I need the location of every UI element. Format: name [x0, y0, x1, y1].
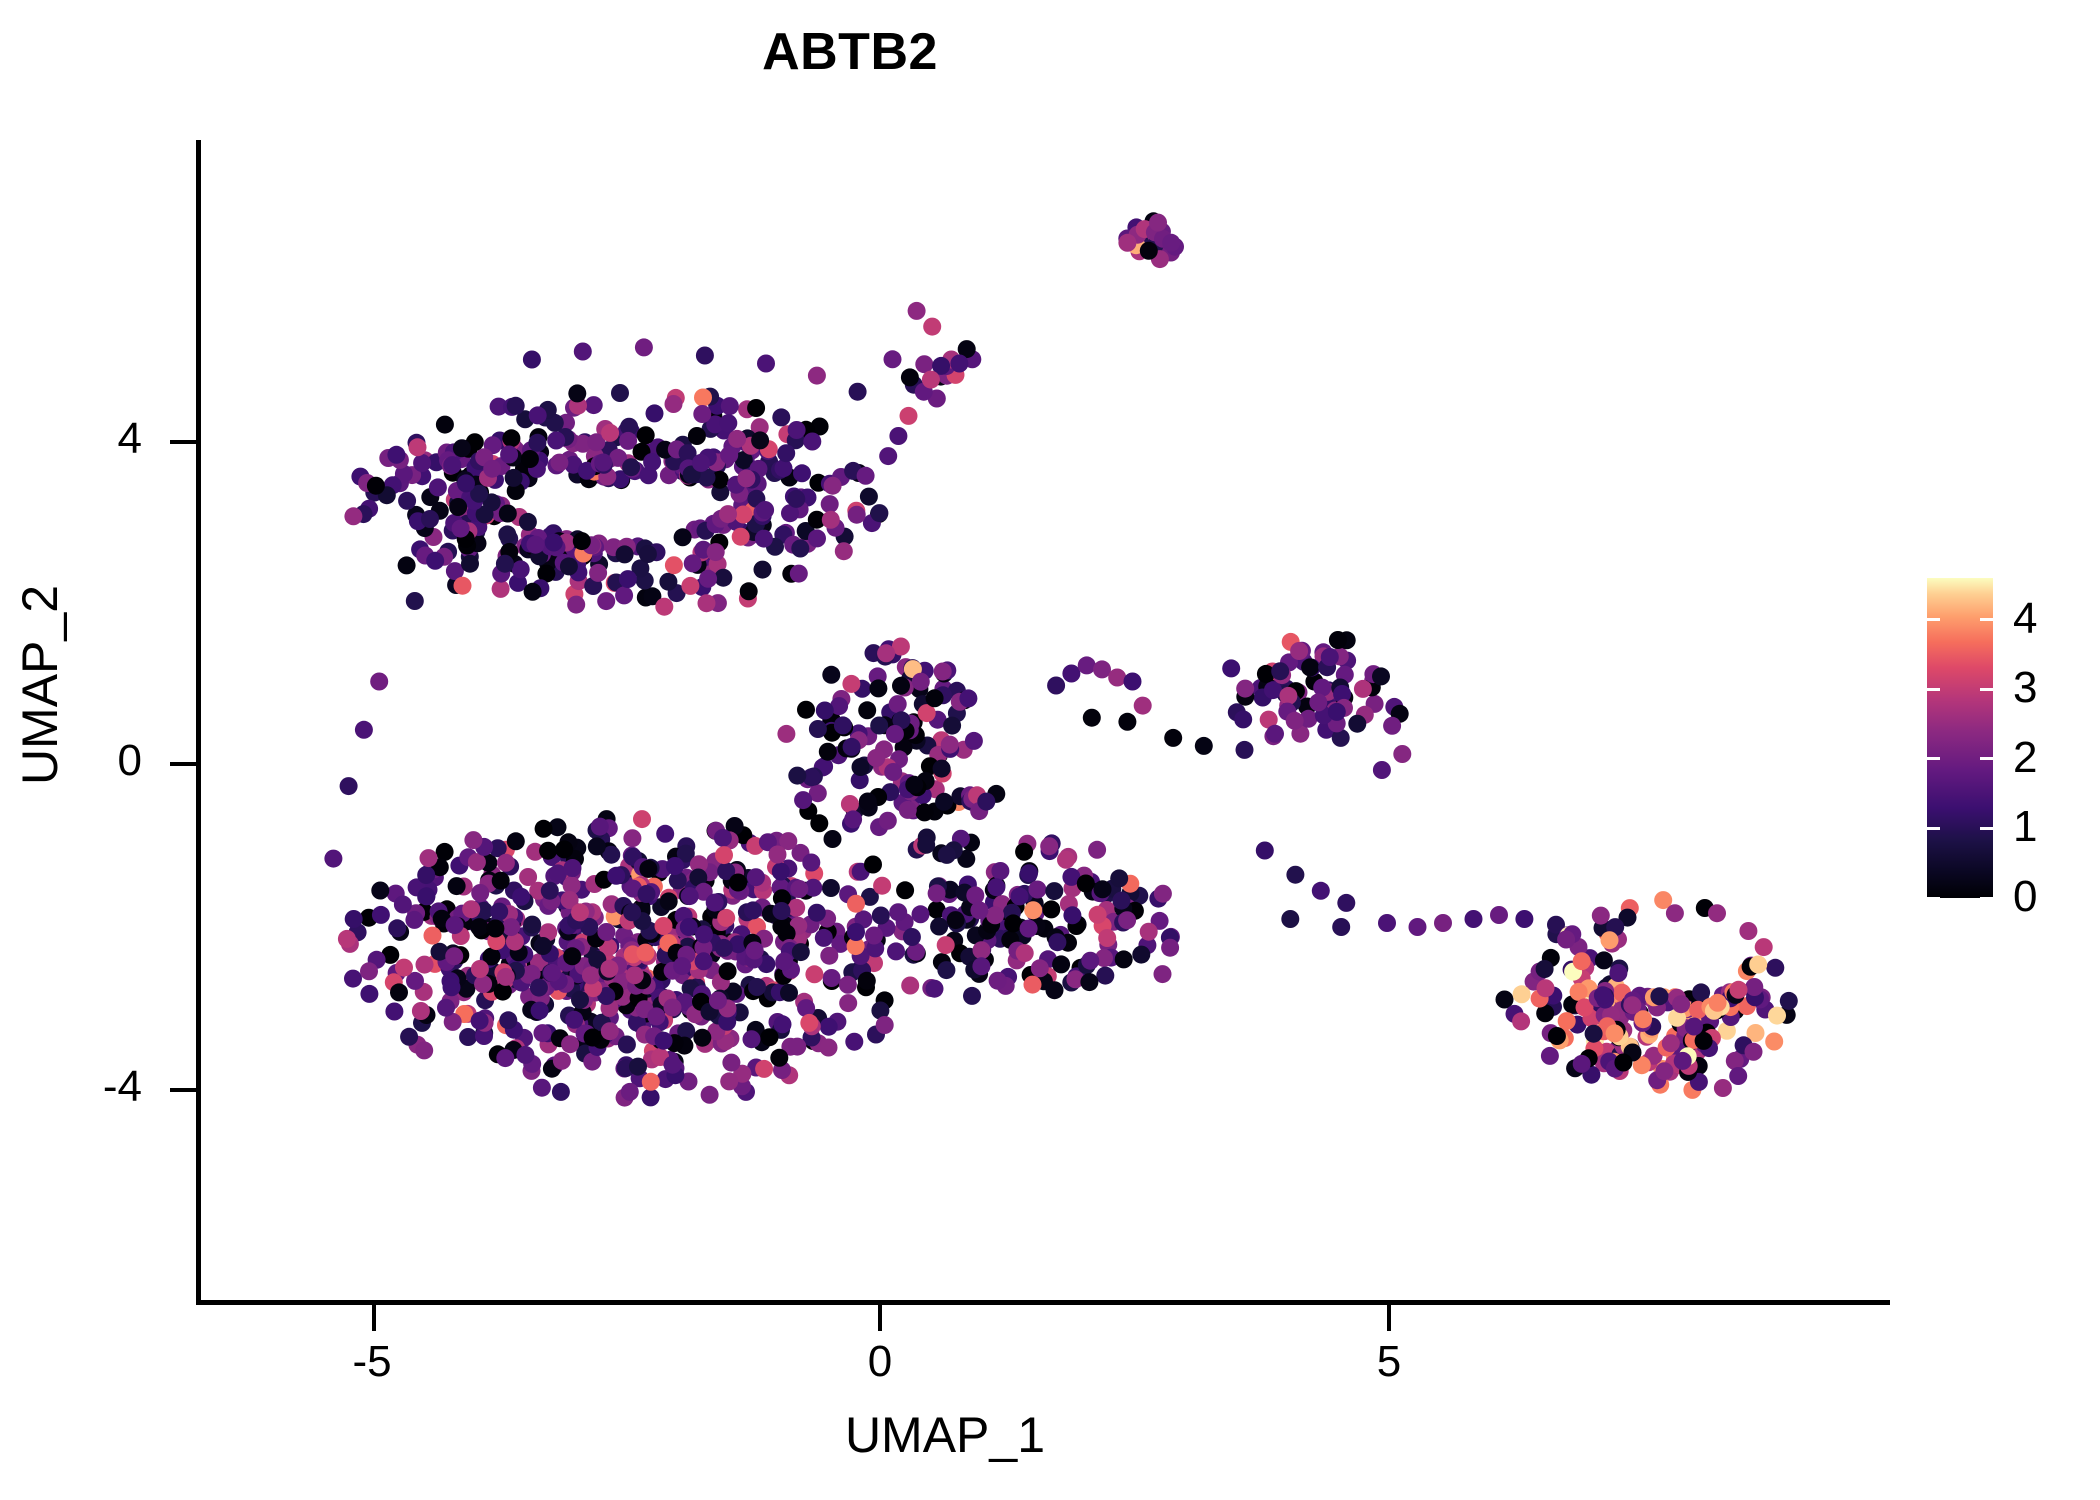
scatter-point — [492, 872, 510, 890]
scatter-point — [565, 1011, 583, 1029]
scatter-point — [819, 743, 837, 761]
scatter-point — [963, 987, 981, 1005]
scatter-point — [601, 424, 619, 442]
scatter-point — [1112, 892, 1130, 910]
scatter-point — [681, 577, 699, 595]
scatter-point — [1745, 978, 1763, 996]
scatter-point — [523, 916, 541, 934]
scatter-point — [486, 920, 504, 938]
scatter-point — [534, 937, 552, 955]
scatter-point — [1537, 979, 1555, 997]
scatter-point — [696, 347, 714, 365]
scatter-point — [1745, 1043, 1763, 1061]
scatter-point — [1118, 911, 1136, 929]
scatter-point — [810, 814, 828, 832]
scatter-point — [1052, 955, 1070, 973]
colorbar-tickmark-1 — [1980, 827, 1993, 830]
scatter-point — [933, 760, 951, 778]
scatter-point — [693, 405, 711, 423]
scatter-point — [1573, 952, 1591, 970]
scatter-point — [972, 957, 990, 975]
scatter-point — [754, 561, 772, 579]
scatter-point — [889, 695, 907, 713]
scatter-point — [1077, 875, 1095, 893]
scatter-point — [835, 542, 853, 560]
scatter-point — [719, 505, 737, 523]
scatter-point — [1057, 851, 1075, 869]
scatter-point — [1256, 842, 1274, 860]
scatter-point — [841, 795, 859, 813]
scatter-point — [496, 1049, 514, 1067]
scatter-point — [987, 878, 1005, 896]
scatter-point — [665, 556, 683, 574]
scatter-point — [400, 1028, 418, 1046]
scatter-point — [637, 944, 655, 962]
x-axis-ticklabel-5: 5 — [1329, 1340, 1449, 1384]
scatter-point — [426, 552, 444, 570]
scatter-point — [1666, 904, 1684, 922]
scatter-point — [1672, 995, 1690, 1013]
scatter-point — [808, 529, 826, 547]
scatter-point — [777, 444, 795, 462]
scatter-point — [1236, 741, 1254, 759]
scatter-point — [884, 350, 902, 368]
scatter-point — [1709, 994, 1727, 1012]
colorbar-tickmark-4 — [1980, 618, 1993, 621]
scatter-point — [822, 879, 840, 897]
scatter-point — [519, 513, 537, 531]
scatter-point — [531, 1002, 549, 1020]
scatter-point — [464, 831, 482, 849]
scatter-point — [344, 507, 362, 525]
scatter-point — [547, 432, 565, 450]
scatter-point — [792, 943, 810, 961]
y-axis-title: UMAP_2 — [15, 505, 65, 865]
scatter-point — [1162, 234, 1180, 252]
scatter-point — [659, 573, 677, 591]
scatter-point — [820, 1039, 838, 1057]
scatter-point — [899, 801, 917, 819]
scatter-point — [1570, 983, 1588, 1001]
scatter-point — [655, 1032, 673, 1050]
scatter-point — [734, 506, 752, 524]
scatter-point — [1708, 904, 1726, 922]
scatter-point — [1541, 1047, 1559, 1065]
scatter-point — [1149, 214, 1167, 232]
scatter-point — [823, 969, 841, 987]
scatter-point — [591, 818, 609, 836]
scatter-point — [621, 1083, 639, 1101]
scatter-point — [970, 901, 988, 919]
scatter-point — [474, 975, 492, 993]
x-axis-title: UMAP_1 — [0, 1410, 1890, 1460]
colorbar-tickmark-3 — [1980, 688, 1993, 691]
scatter-point — [490, 903, 508, 921]
scatter-point — [448, 877, 466, 895]
scatter-point — [1378, 914, 1396, 932]
scatter-point — [534, 1024, 552, 1042]
scatter-point — [1154, 885, 1172, 903]
scatter-point — [1266, 725, 1284, 743]
scatter-point — [642, 1088, 660, 1106]
scatter-point — [502, 429, 520, 447]
scatter-point — [684, 554, 702, 572]
scatter-point — [991, 862, 1009, 880]
scatter-point — [912, 905, 930, 923]
scatter-point — [398, 556, 416, 574]
scatter-point — [1465, 910, 1483, 928]
scatter-point — [901, 977, 919, 995]
scatter-point — [1081, 952, 1099, 970]
scatter-point — [688, 427, 706, 445]
scatter-point — [1016, 944, 1034, 962]
scatter-point — [740, 582, 758, 600]
scatter-point — [852, 758, 870, 776]
scatter-point — [616, 545, 634, 563]
scatter-point — [797, 701, 815, 719]
scatter-point — [530, 979, 548, 997]
scatter-point — [436, 416, 454, 434]
scatter-point — [1040, 837, 1058, 855]
scatter-point — [626, 966, 644, 984]
scatter-point — [973, 941, 991, 959]
scatter-point — [905, 776, 923, 794]
x-axis-tick-0 — [878, 1305, 882, 1331]
scatter-point — [642, 1073, 660, 1091]
scatter-point — [720, 1072, 738, 1090]
scatter-point — [748, 978, 766, 996]
scatter-point — [571, 903, 589, 921]
scatter-point — [755, 1060, 773, 1078]
scatter-point — [498, 525, 516, 543]
scatter-point — [1601, 931, 1619, 949]
colorbar-tickmark-3 — [1927, 688, 1940, 691]
scatter-point — [1609, 964, 1627, 982]
scatter-point — [1083, 709, 1101, 727]
scatter-point — [611, 384, 629, 402]
scatter-point — [1140, 923, 1158, 941]
scatter-point — [1124, 673, 1142, 691]
scatter-point — [582, 966, 600, 984]
scatter-point — [706, 894, 724, 912]
scatter-point — [788, 1038, 806, 1056]
scatter-point — [1132, 946, 1150, 964]
scatter-point — [355, 721, 373, 739]
scatter-point — [1093, 660, 1111, 678]
scatter-point — [528, 434, 546, 452]
scatter-point — [714, 829, 732, 847]
scatter-point — [1765, 1033, 1783, 1051]
scatter-point — [568, 384, 586, 402]
scatter-point — [1015, 843, 1033, 861]
scatter-point — [633, 810, 651, 828]
scatter-point — [1329, 631, 1347, 649]
scatter-point — [1332, 918, 1350, 936]
scatter-point — [1004, 914, 1022, 932]
scatter-point — [1080, 973, 1098, 991]
scatter-point — [564, 859, 582, 877]
scatter-point — [370, 673, 388, 691]
scatter-point — [1140, 242, 1158, 260]
scatter-point — [387, 446, 405, 464]
scatter-point — [529, 406, 547, 424]
scatter-point — [860, 488, 878, 506]
scatter-point — [462, 900, 480, 918]
scatter-point — [646, 404, 664, 422]
scatter-point — [923, 318, 941, 336]
scatter-point — [1118, 713, 1136, 731]
scatter-point — [1309, 693, 1327, 711]
scatter-point — [1573, 1055, 1591, 1073]
scatter-point — [788, 421, 806, 439]
scatter-point — [1348, 715, 1366, 733]
scatter-point — [870, 504, 888, 522]
scatter-point — [793, 464, 811, 482]
scatter-point — [500, 446, 518, 464]
scatter-point — [937, 961, 955, 979]
scatter-point — [681, 887, 699, 905]
colorbar-legend: 01234 — [1927, 578, 1993, 898]
colorbar-tickmark-2 — [1927, 757, 1940, 760]
scatter-point — [788, 767, 806, 785]
scatter-point — [747, 399, 765, 417]
scatter-point — [743, 1030, 761, 1048]
scatter-point — [721, 397, 739, 415]
scatter-point — [550, 454, 568, 472]
scatter-point — [1768, 1007, 1786, 1025]
scatter-point — [574, 343, 592, 361]
scatter-point — [889, 427, 907, 445]
scatter-point — [394, 896, 412, 914]
scatter-point — [1606, 1024, 1624, 1042]
scatter-point — [879, 447, 897, 465]
scatter-point — [755, 530, 773, 548]
scatter-point — [822, 666, 840, 684]
scatter-point — [499, 1011, 517, 1029]
scatter-point — [420, 849, 438, 867]
scatter-point — [666, 857, 684, 875]
scatter-point — [694, 389, 712, 407]
scatter-point — [1614, 1054, 1632, 1072]
scatter-point — [452, 520, 470, 538]
colorbar-tickmark-0 — [1980, 897, 1993, 900]
scatter-point — [1222, 659, 1240, 677]
scatter-point — [847, 923, 865, 941]
scatter-point — [870, 717, 888, 735]
colorbar-ticklabel-2: 2 — [2013, 736, 2037, 780]
scatter-point — [834, 716, 852, 734]
scatter-point — [761, 1028, 779, 1046]
scatter-point — [497, 968, 515, 986]
scatter-point — [879, 812, 897, 830]
scatter-point — [922, 371, 940, 389]
scatter-point — [842, 675, 860, 693]
scatter-point — [1286, 712, 1304, 730]
scatter-point — [607, 867, 625, 885]
scatter-point — [977, 793, 995, 811]
scatter-point — [1078, 656, 1096, 674]
y-axis-tick-4 — [170, 440, 196, 444]
scatter-point — [413, 454, 431, 472]
scatter-point — [555, 840, 573, 858]
scatter-point — [1096, 967, 1114, 985]
scatter-point — [1098, 929, 1116, 947]
scatter-point — [471, 1012, 489, 1030]
scatter-point — [707, 543, 725, 561]
scatter-point — [371, 882, 389, 900]
x-axis-ticklabel-0: 0 — [820, 1340, 940, 1384]
scatter-point — [901, 368, 919, 386]
scatter-point — [492, 580, 510, 598]
scatter-point — [950, 355, 968, 373]
scatter-point — [507, 832, 525, 850]
scatter-point — [845, 1033, 863, 1051]
x-axis-tick-5 — [1387, 1305, 1391, 1331]
scatter-point — [360, 985, 378, 1003]
scatter-point — [935, 793, 953, 811]
scatter-point — [1301, 658, 1319, 676]
scatter-point — [808, 904, 826, 922]
scatter-point — [1063, 906, 1081, 924]
scatter-point — [496, 555, 514, 573]
scatter-point — [848, 506, 866, 524]
scatter-point — [938, 846, 956, 864]
scatter-point — [1557, 931, 1575, 949]
scatter-point — [573, 532, 591, 550]
scatter-point — [843, 738, 861, 756]
scatter-point — [1110, 869, 1128, 887]
scatter-point — [908, 302, 926, 320]
scatter-point — [719, 962, 737, 980]
scatter-point — [1434, 914, 1452, 932]
scatter-point — [1490, 906, 1508, 924]
colorbar-ticklabel-0: 0 — [2013, 875, 2037, 919]
scatter-point — [344, 970, 362, 988]
scatter-point — [820, 947, 838, 965]
scatter-point — [872, 907, 890, 925]
colorbar-tickmark-1 — [1927, 827, 1940, 830]
plot-panel — [198, 140, 1890, 1302]
scatter-point — [729, 874, 747, 892]
scatter-point — [660, 892, 678, 910]
scatter-point — [406, 592, 424, 610]
scatter-point — [1047, 677, 1065, 695]
scatter-point — [533, 1079, 551, 1097]
scatter-point — [900, 407, 918, 425]
scatter-point — [619, 570, 637, 588]
y-axis-tick-neg4 — [170, 1088, 196, 1092]
scatter-point — [787, 490, 805, 508]
scatter-point — [639, 860, 657, 878]
scatter-point — [715, 939, 733, 957]
scatter-point — [367, 477, 385, 495]
scatter-point — [780, 984, 798, 1002]
scatter-point — [388, 919, 406, 937]
scatter-point — [1739, 922, 1757, 940]
x-axis-tick-neg5 — [372, 1305, 376, 1331]
scatter-point — [527, 536, 545, 554]
scatter-point — [865, 927, 883, 945]
scatter-point — [1236, 680, 1254, 698]
scatter-point — [483, 460, 501, 478]
scatter-point — [790, 880, 808, 898]
scatter-point — [698, 594, 716, 612]
colorbar-tickmark-4 — [1927, 618, 1940, 621]
scatter-point — [561, 1035, 579, 1053]
scatter-point — [794, 791, 812, 809]
scatter-point — [680, 918, 698, 936]
scatter-point — [535, 820, 553, 838]
scatter-point — [903, 928, 921, 946]
scatter-point — [849, 383, 867, 401]
scatter-point — [769, 846, 787, 864]
scatter-point — [917, 836, 935, 854]
scatter-point — [443, 978, 461, 996]
scatter-point — [744, 901, 762, 919]
scatter-point — [585, 396, 603, 414]
scatter-point — [523, 351, 541, 369]
scatter-point — [424, 927, 442, 945]
scatter-point — [512, 888, 530, 906]
scatter-point — [790, 565, 808, 583]
scatter-point — [728, 430, 746, 448]
scatter-point — [372, 906, 390, 924]
y-axis-ticklabel-neg4: -4 — [103, 1065, 142, 1109]
scatter-point — [1592, 907, 1610, 925]
scatter-point — [858, 972, 876, 990]
scatter-point — [1290, 642, 1308, 660]
scatter-point — [1766, 959, 1784, 977]
scatter-point — [775, 952, 793, 970]
scatter-point — [1714, 1079, 1732, 1097]
scatter-point — [864, 856, 882, 874]
scatter-point — [553, 1052, 571, 1070]
scatter-point — [717, 909, 735, 927]
scatter-point — [824, 477, 842, 495]
scatter-point — [665, 395, 683, 413]
scatter-point — [1650, 987, 1668, 1005]
scatter-point — [986, 906, 1004, 924]
scatter-point — [1045, 882, 1063, 900]
scatter-point — [516, 1046, 534, 1064]
scatter-point — [934, 663, 952, 681]
scatter-point — [623, 829, 641, 847]
scatter-point — [858, 701, 876, 719]
scatter-point — [453, 439, 471, 457]
colorbar-gradient — [1927, 578, 1993, 898]
scatter-point — [360, 962, 378, 980]
scatter-point — [693, 1029, 711, 1047]
scatter-point — [715, 846, 733, 864]
scatter-point — [338, 930, 356, 948]
scatter-point — [571, 991, 589, 1009]
scatter-point — [1623, 996, 1641, 1014]
scatter-point — [797, 999, 815, 1017]
scatter-point — [802, 854, 820, 872]
scatter-point — [1536, 960, 1554, 978]
scatter-point — [1780, 992, 1798, 1010]
scatter-point — [552, 1083, 570, 1101]
scatter-points-svg — [198, 140, 1890, 1302]
scatter-point — [437, 999, 455, 1017]
scatter-point — [597, 592, 615, 610]
scatter-point — [445, 947, 463, 965]
scatter-point — [1164, 729, 1182, 747]
scatter-point — [732, 528, 750, 546]
scatter-point — [965, 732, 983, 750]
scatter-point — [1024, 901, 1042, 919]
scatter-point — [709, 992, 727, 1010]
